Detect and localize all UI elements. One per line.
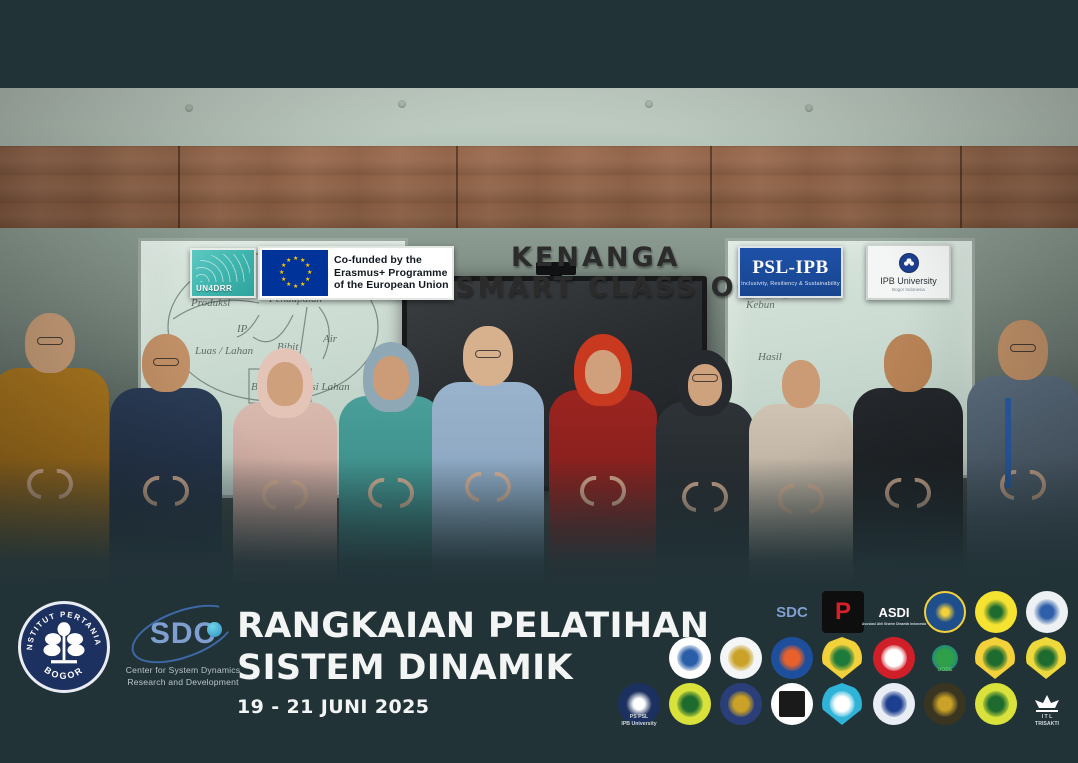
partner-logo-jember bbox=[822, 637, 864, 679]
partner-logo-telkom bbox=[669, 637, 711, 679]
partner-logo-ui bbox=[975, 591, 1017, 633]
event-photograph: LS Produksi Pendapatan IP Luas / Lahan B… bbox=[0, 88, 1078, 588]
person-6 bbox=[548, 298, 658, 588]
person-3 bbox=[232, 313, 337, 588]
ceiling-dot-icon bbox=[645, 100, 653, 108]
partner-logo-ps-psl-ipb: PS PSL IPB University bbox=[618, 683, 660, 725]
eu-flag-icon: ★ ★ ★ ★ ★ ★ ★ ★ ★ ★ ★ ★ bbox=[262, 250, 328, 296]
ipb-seal-icon bbox=[899, 253, 919, 273]
partner-logo-grid: SDC P ASDI Asosiasi Ahli Sistem Dinamik … bbox=[688, 591, 1068, 729]
person-2 bbox=[108, 298, 223, 588]
partner-logo-hasanuddin bbox=[669, 683, 711, 725]
person-10 bbox=[965, 283, 1078, 588]
partner-logo-p: P bbox=[822, 591, 864, 633]
sign-un4drr: UN4DRR bbox=[190, 248, 256, 298]
partner-logo-mataram-2 bbox=[975, 637, 1017, 679]
partner-row-3: PS PSL IPB University bbox=[688, 683, 1068, 725]
partner-logo-undip bbox=[1026, 591, 1068, 633]
itl-crown-icon bbox=[1033, 694, 1061, 714]
bottom-banner: INSTITUT PERTANIAN BOGOR SDC Center for … bbox=[0, 583, 1078, 763]
brand-logos: INSTITUT PERTANIAN BOGOR SDC Center for … bbox=[18, 601, 242, 693]
partner-logo-itl-trisakti: I T L TRISAKTI bbox=[1026, 683, 1068, 725]
partner-logo-lampung bbox=[1026, 637, 1068, 679]
partner-logo-uobe: UOBE bbox=[924, 637, 966, 679]
poster-root: LS Produksi Pendapatan IP Luas / Lahan B… bbox=[0, 0, 1078, 763]
partner-logo-terbuka bbox=[822, 683, 864, 725]
partner-row-2: UOBE bbox=[688, 637, 1068, 679]
ceiling-dot-icon bbox=[805, 104, 813, 112]
ceiling-dot-icon bbox=[185, 104, 193, 112]
svg-text:BOGOR: BOGOR bbox=[43, 665, 86, 681]
person-4 bbox=[338, 308, 443, 588]
sdc-globe-icon bbox=[207, 622, 222, 637]
ipb-seal-ring-text: INSTITUT PERTANIAN BOGOR bbox=[21, 604, 107, 690]
partner-logo-mataram bbox=[924, 591, 966, 633]
person-9 bbox=[852, 298, 964, 588]
sign-eu-erasmus: ★ ★ ★ ★ ★ ★ ★ ★ ★ ★ ★ ★ Co-funded by the… bbox=[258, 246, 454, 300]
person-5 bbox=[430, 288, 545, 588]
sign-psl-ipb: PSL-IPB Inclusivity, Resiliency & Sustai… bbox=[738, 246, 843, 298]
partner-logo-ugm bbox=[873, 637, 915, 679]
person-7 bbox=[655, 313, 755, 588]
partner-logo-upi bbox=[720, 637, 762, 679]
ipb-institution-seal: INSTITUT PERTANIAN BOGOR bbox=[18, 601, 110, 693]
partner-logo-tadulako bbox=[924, 683, 966, 725]
sign-ipb-university: IPB University Bogor Indonesia bbox=[866, 244, 951, 300]
partner-logo-negeri bbox=[771, 683, 813, 725]
ceiling-dot-icon bbox=[398, 100, 406, 108]
sdc-tagline: Center for System Dynamics Research and … bbox=[124, 664, 242, 688]
partner-logo-brawijaya bbox=[771, 637, 813, 679]
sdc-logo: SDC Center for System Dynamics Research … bbox=[124, 606, 242, 688]
partner-logo-sdc: SDC bbox=[771, 591, 813, 633]
partner-logo-sriwijaya bbox=[975, 683, 1017, 725]
partner-logo-asdi: ASDI Asosiasi Ahli Sistem Dinamik Indone… bbox=[873, 591, 915, 633]
upper-wall bbox=[0, 88, 1078, 154]
eu-banner-text: Co-funded by the Erasmus+ Programme of t… bbox=[334, 254, 449, 292]
person-8 bbox=[748, 316, 853, 588]
person-1 bbox=[0, 288, 110, 588]
partner-logo-padjadjaran bbox=[720, 683, 762, 725]
partner-logo-airlangga bbox=[873, 683, 915, 725]
wood-panel-wall bbox=[0, 146, 1078, 236]
partner-row-1: SDC P ASDI Asosiasi Ahli Sistem Dinamik … bbox=[688, 591, 1068, 633]
svg-text:INSTITUT PERTANIAN: INSTITUT PERTANIAN bbox=[21, 604, 103, 650]
